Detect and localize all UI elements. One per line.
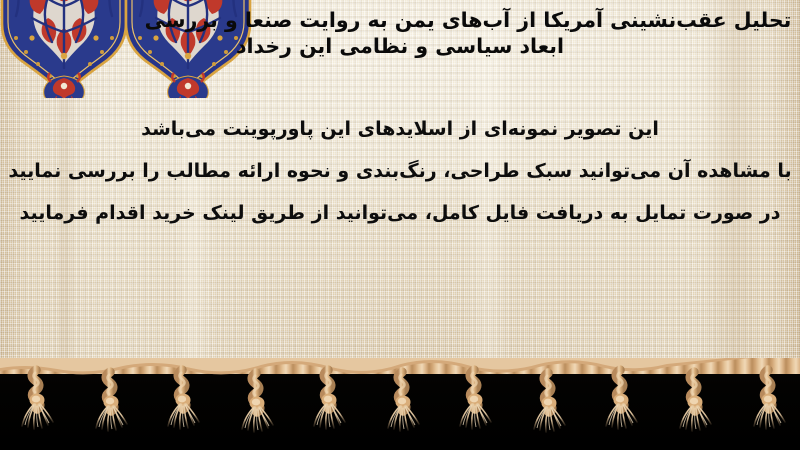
slide-title-line-1: تحلیل عقب‌نشینی آمریکا از آب‌های یمن به …: [0, 7, 800, 33]
fringe-tassels: [0, 358, 800, 450]
slide-body-line-2: با مشاهده آن می‌توانید سبک طراحی، رنگ‌بن…: [0, 158, 800, 184]
slide-text-block: تحلیل عقب‌نشینی آمریکا از آب‌های یمن به …: [0, 0, 800, 368]
carpet-fringe-band: [0, 358, 800, 450]
slide-body-line-3: در صورت تمایل به دریافت فایل کامل، می‌تو…: [0, 200, 800, 226]
slide-title-line-2: ابعاد سیاسی و نظامی این رخداد: [0, 33, 800, 59]
slide-canvas: تحلیل عقب‌نشینی آمریکا از آب‌های یمن به …: [0, 0, 800, 450]
slide-body-line-1: این تصویر نمونه‌ای از اسلایدهای این پاور…: [0, 116, 800, 142]
